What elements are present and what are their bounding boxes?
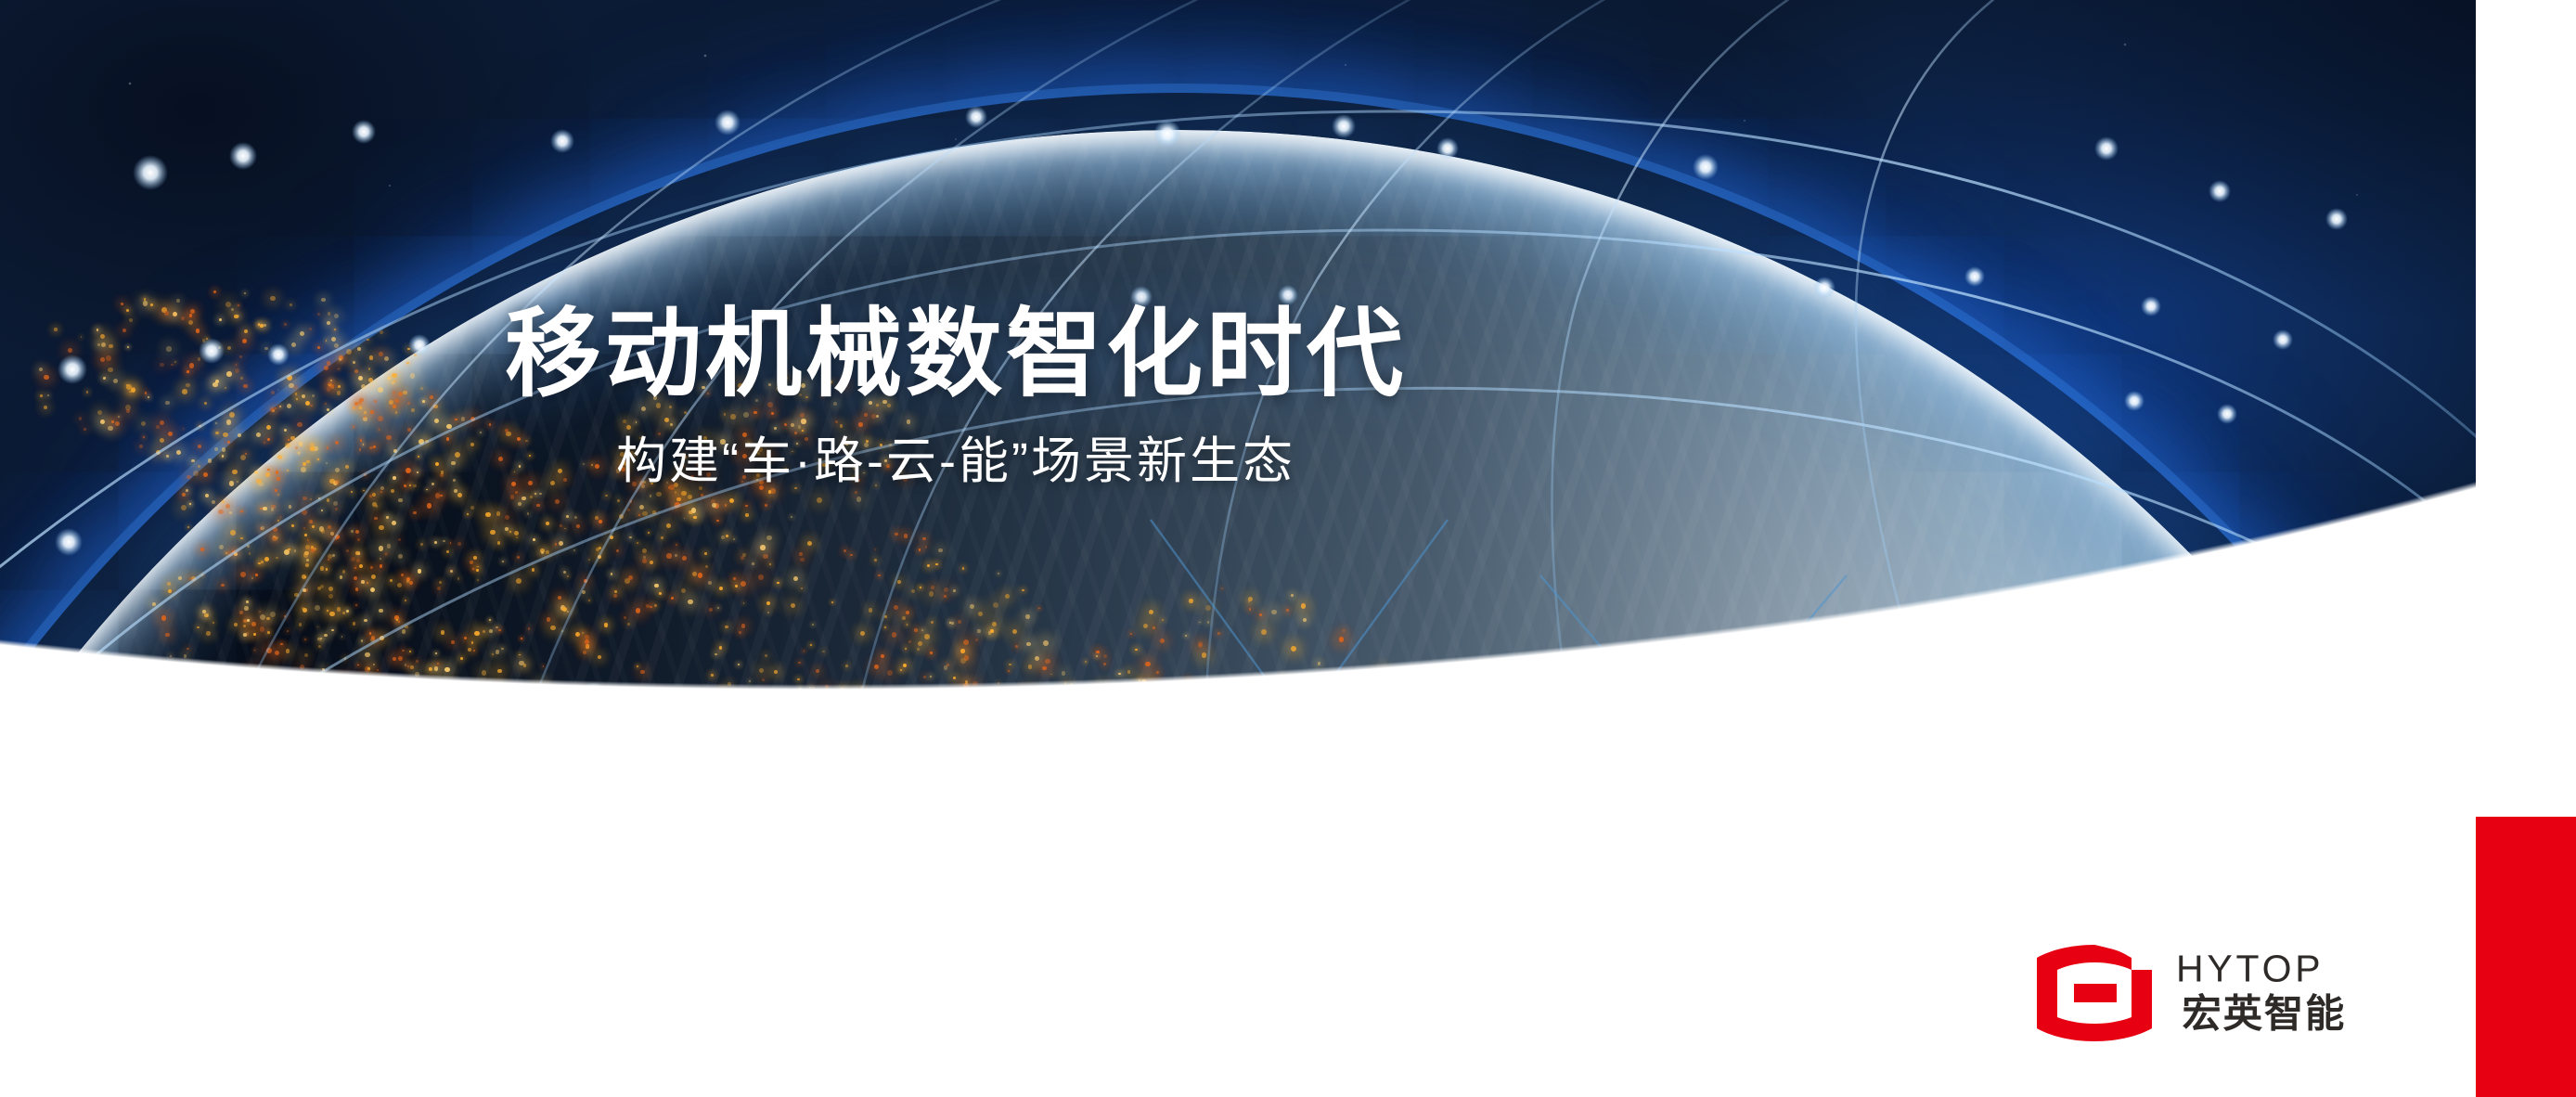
hytop-logo-mark-icon	[2037, 945, 2152, 1041]
title-slide: 移动机械数智化时代 构建“车·路-云-能”场景新生态 HYTOP 宏英智能	[0, 0, 2576, 1097]
logo-chinese-wordmark: 宏英智能	[2176, 992, 2432, 1035]
hero-background-image: 移动机械数智化时代 构建“车·路-云-能”场景新生态	[0, 0, 2476, 1097]
logo-latin-text: HYTOP	[2176, 951, 2324, 988]
red-stripe-top-mask	[2476, 0, 2576, 817]
brand-logo: HYTOP 宏英智能	[2037, 945, 2432, 1041]
page-subtitle: 构建“车·路-云-能”场景新生态	[0, 434, 1912, 489]
logo-chinese-text: 宏英智能	[2183, 992, 2347, 1035]
headline-block: 移动机械数智化时代 构建“车·路-云-能”场景新生态	[0, 306, 1912, 489]
logo-wordmark: HYTOP 宏英智能	[2176, 951, 2432, 1035]
logo-latin-wordmark: HYTOP	[2176, 951, 2432, 988]
page-title: 移动机械数智化时代	[0, 306, 1912, 403]
